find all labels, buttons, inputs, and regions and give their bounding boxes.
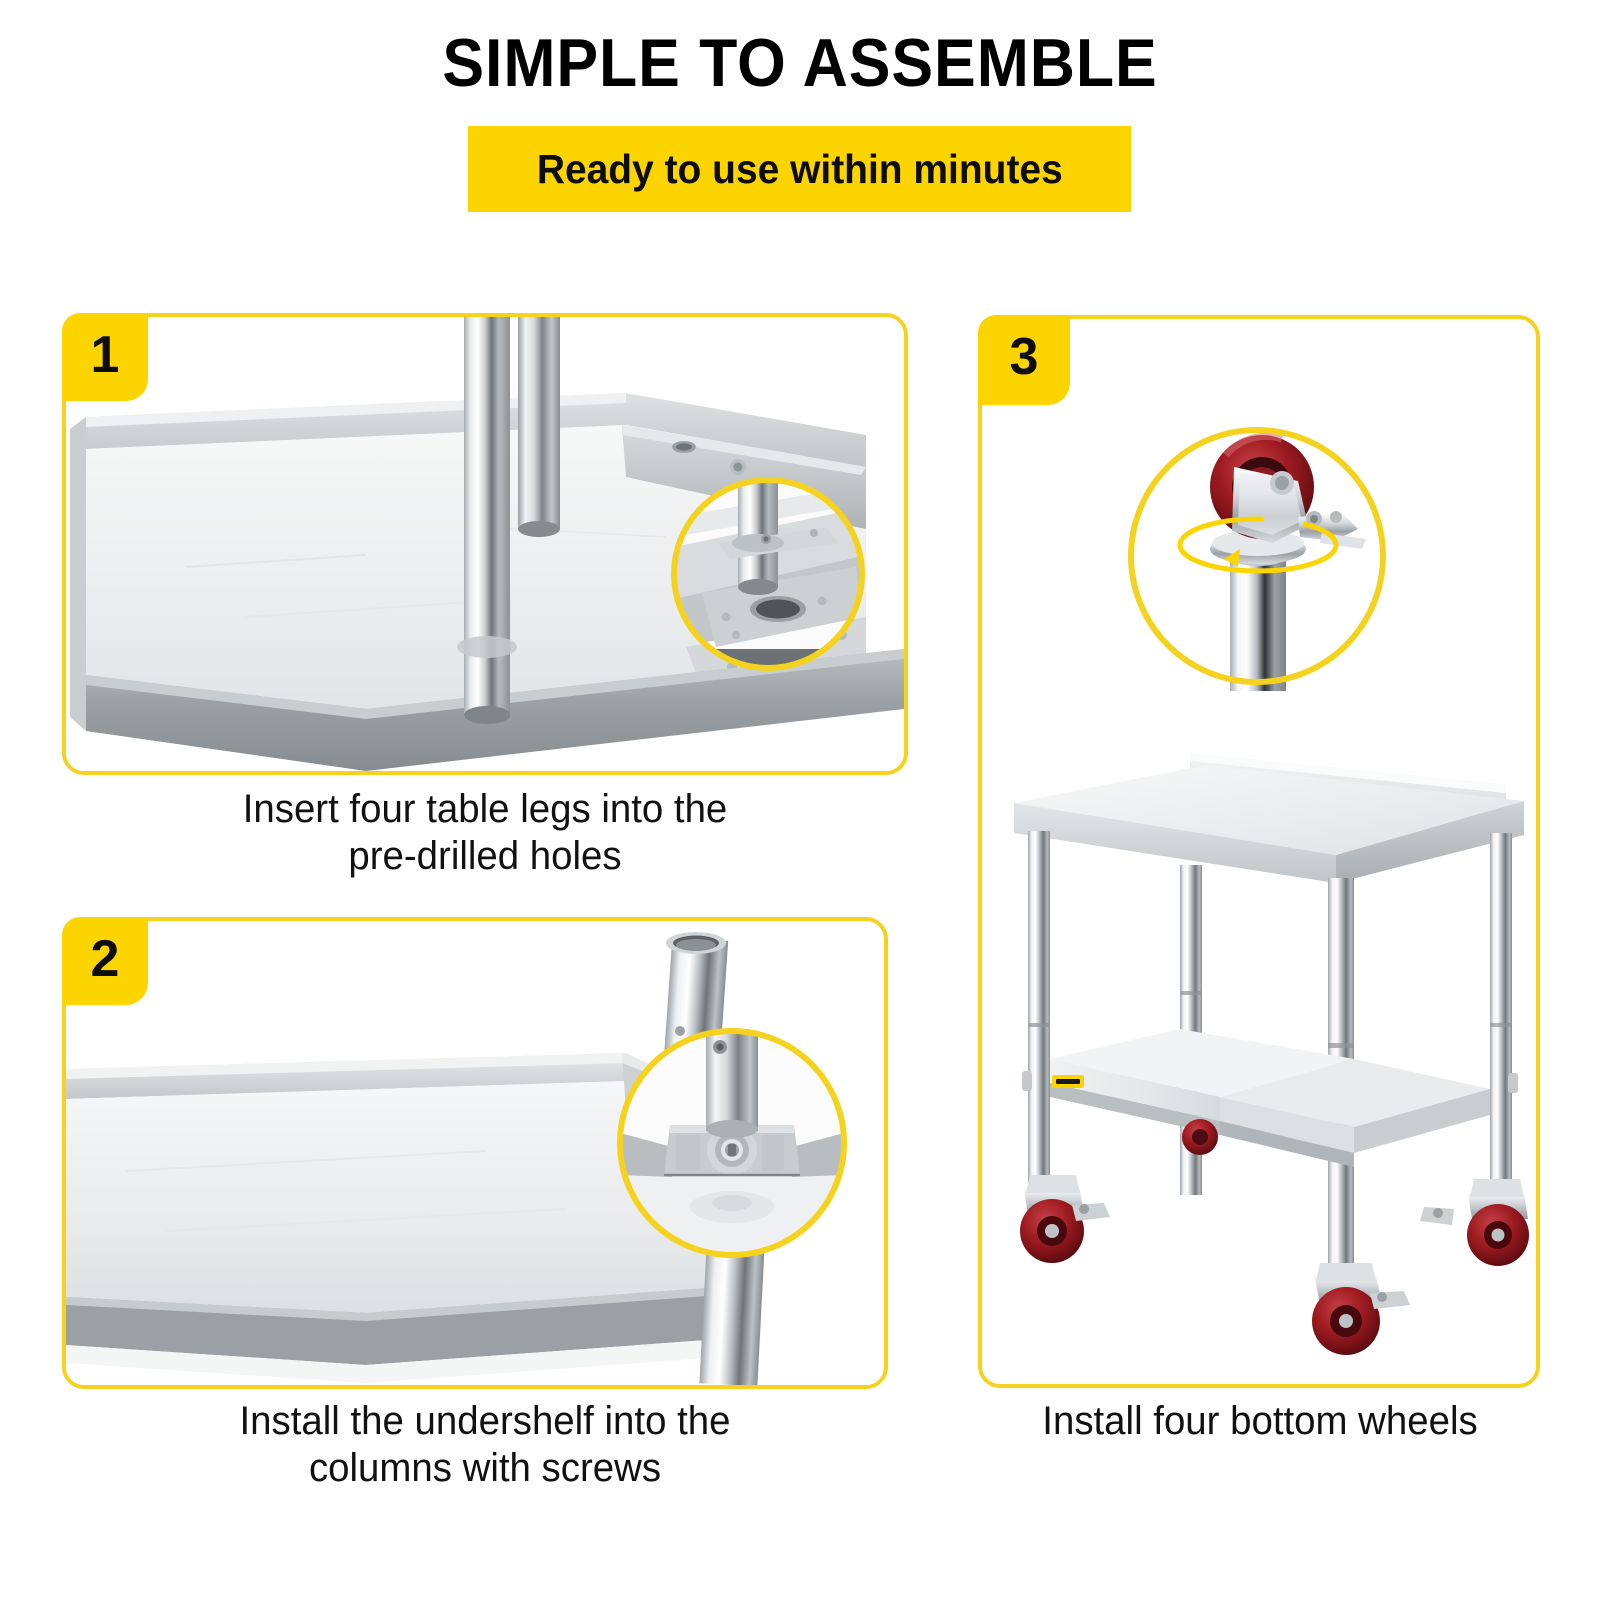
page-title: SIMPLE TO ASSEMBLE bbox=[64, 24, 1536, 102]
step-number-3: 3 bbox=[1010, 315, 1039, 383]
step-caption-1: Insert four table legs into the pre-dril… bbox=[77, 786, 893, 880]
table-frame-with-legs-photo bbox=[66, 317, 904, 771]
screw-bracket-closeup bbox=[614, 1025, 850, 1261]
assembled-worktable-photo bbox=[984, 723, 1540, 1383]
brand-label bbox=[1052, 1075, 1084, 1088]
caster-wheel-rear bbox=[1182, 1119, 1218, 1155]
step-caption-1-line-1: Insert four table legs into the bbox=[77, 786, 893, 833]
step-panel-3 bbox=[978, 315, 1540, 1388]
step-number-2: 2 bbox=[91, 917, 120, 985]
step-panel-1 bbox=[62, 313, 908, 775]
caster-wheel-closeup bbox=[1122, 421, 1392, 691]
step-caption-3-line-1: Install four bottom wheels bbox=[972, 1398, 1548, 1445]
step-caption-1-line-2: pre-drilled holes bbox=[77, 833, 893, 880]
step-badge-1: 1 bbox=[62, 313, 148, 401]
step-badge-2: 2 bbox=[62, 917, 148, 1005]
step-caption-3: Install four bottom wheels bbox=[972, 1398, 1548, 1445]
infographic-page: SIMPLE TO ASSEMBLE Ready to use within m… bbox=[0, 0, 1600, 1600]
header: SIMPLE TO ASSEMBLE Ready to use within m… bbox=[0, 0, 1600, 240]
step-number-1: 1 bbox=[91, 313, 120, 381]
step-caption-2: Install the undershelf into the columns … bbox=[77, 1398, 893, 1492]
subtitle-text: Ready to use within minutes bbox=[537, 146, 1063, 193]
step-badge-3: 3 bbox=[978, 315, 1070, 405]
step-panel-2 bbox=[62, 917, 888, 1389]
step-caption-2-line-1: Install the undershelf into the bbox=[77, 1398, 893, 1445]
subtitle-banner: Ready to use within minutes bbox=[468, 126, 1131, 212]
step-caption-2-line-2: columns with screws bbox=[77, 1445, 893, 1492]
